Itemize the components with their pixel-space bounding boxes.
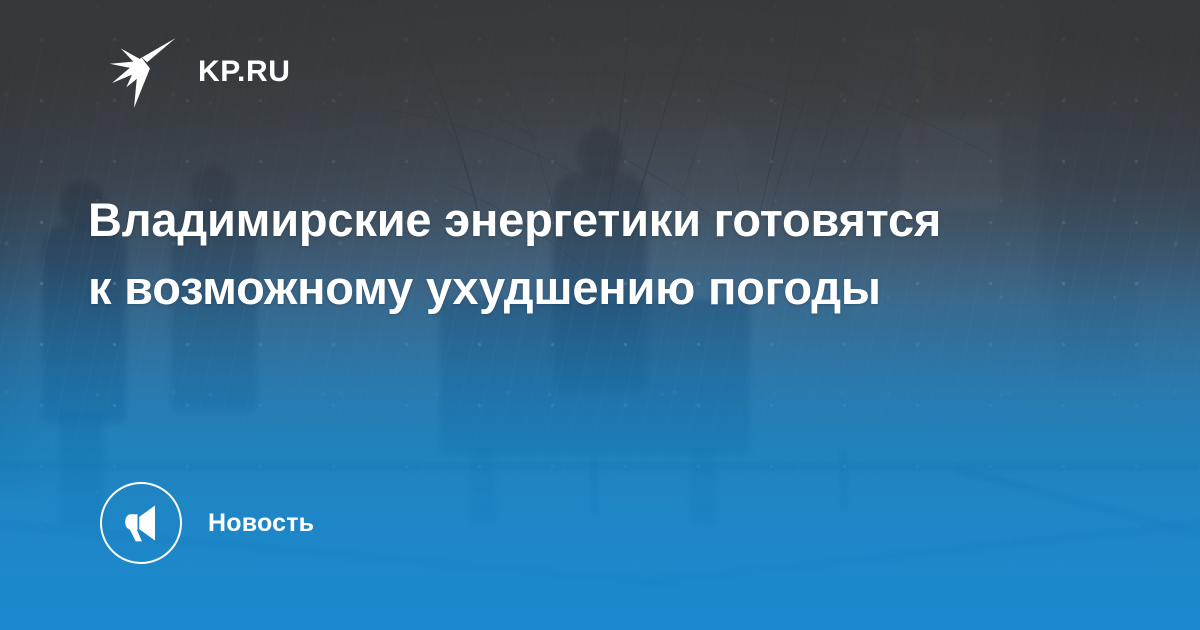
page-title: Владимирские энергетики готовятся к возм… <box>88 186 968 322</box>
badge-icon-circle <box>100 482 182 564</box>
megaphone-icon <box>120 502 162 544</box>
swallow-bird-icon <box>108 36 178 108</box>
brand-lockup[interactable]: KP.RU <box>108 36 290 108</box>
brand-name: KP.RU <box>198 57 290 87</box>
status-badge-label: Новость <box>208 511 314 536</box>
status-badge[interactable]: Новость <box>100 482 314 564</box>
news-share-card: KP.RU Владимирские энергетики готовятся … <box>0 0 1200 630</box>
card-content: KP.RU Владимирские энергетики готовятся … <box>0 0 1200 630</box>
